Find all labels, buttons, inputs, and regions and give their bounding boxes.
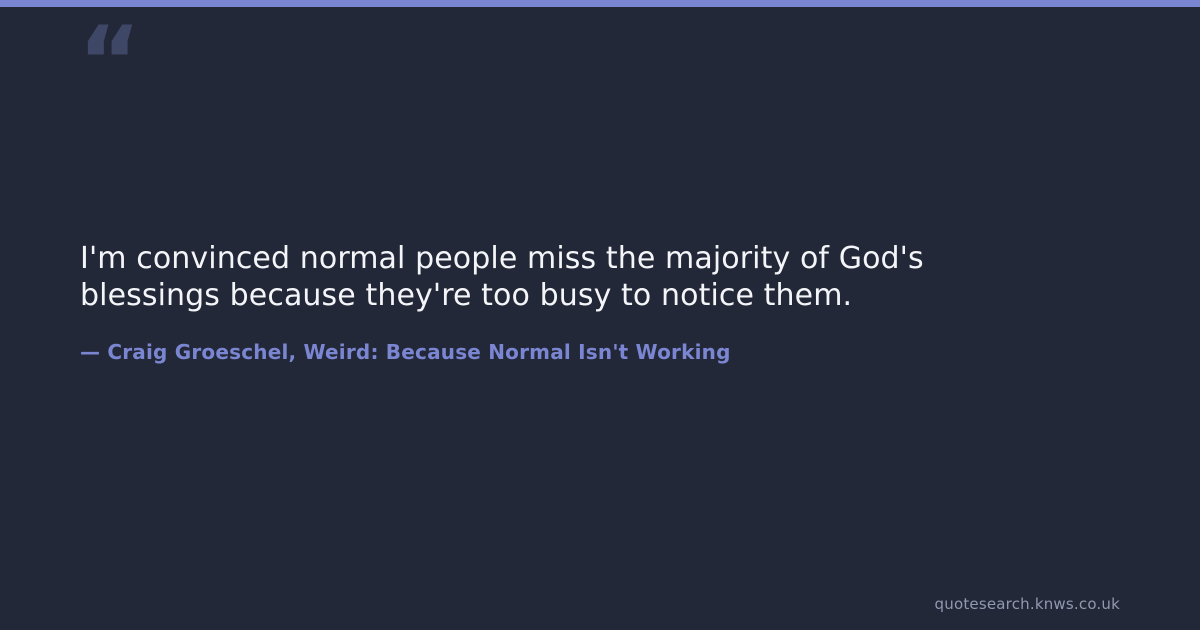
top-accent-bar xyxy=(0,0,1200,7)
quote-content: I'm convinced normal people miss the maj… xyxy=(80,240,1120,365)
quote-card: “ I'm convinced normal people miss the m… xyxy=(0,0,1200,630)
quote-text: I'm convinced normal people miss the maj… xyxy=(80,240,1000,314)
site-watermark: quotesearch.knws.co.uk xyxy=(935,595,1120,613)
open-quote-icon: “ xyxy=(78,14,139,110)
quote-attribution: — Craig Groeschel, Weird: Because Normal… xyxy=(80,314,1120,365)
